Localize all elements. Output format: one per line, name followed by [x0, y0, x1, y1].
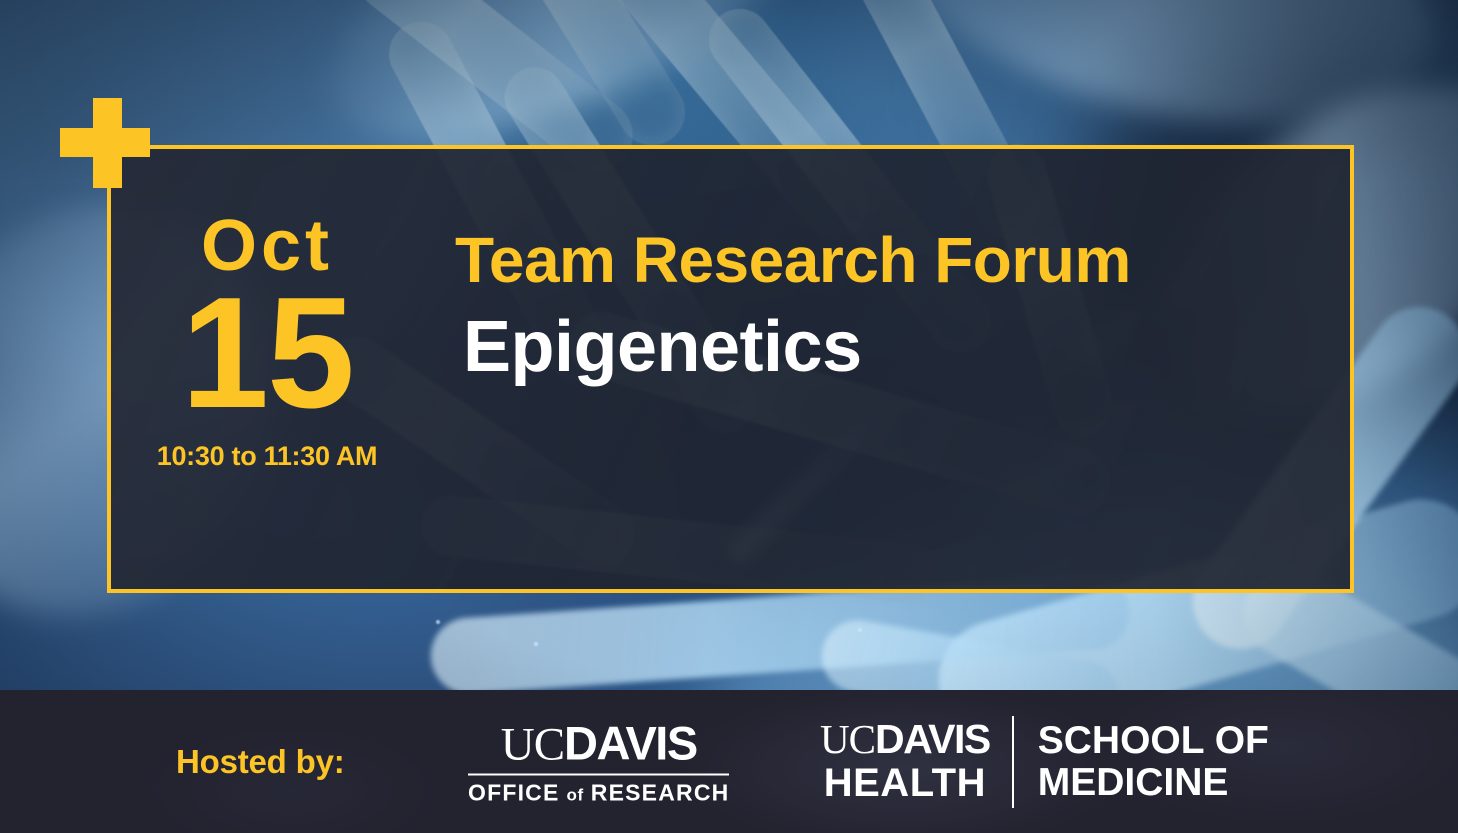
hosted-by-label: Hosted by: — [176, 743, 345, 781]
uc-text: UC — [820, 719, 875, 760]
logo-divider-rule — [468, 773, 729, 775]
davis-text: DAVIS — [875, 719, 990, 760]
event-time: 10:30 to 11:30 AM — [143, 443, 391, 470]
uc-davis-office-of-research-logo: UC DAVIS OFFICE of RESEARCH — [468, 719, 729, 804]
event-date-block: Oct 15 10:30 to 11:30 AM — [143, 212, 391, 470]
unit-name: OFFICE of RESEARCH — [468, 781, 729, 804]
event-title-block: Team Research Forum Epigenetics — [455, 228, 1245, 385]
uc-davis-wordmark: UC DAVIS — [820, 719, 990, 760]
davis-text: DAVIS — [564, 719, 697, 766]
school-line-2: MEDICINE — [1038, 762, 1269, 803]
event-flyer: Oct 15 10:30 to 11:30 AM Team Research F… — [0, 0, 1458, 833]
uc-text: UC — [501, 721, 564, 768]
series-title: Team Research Forum — [455, 228, 1245, 293]
event-day: 15 — [143, 284, 391, 423]
unit-of-text: of — [567, 786, 584, 803]
event-topic: Epigenetics — [463, 311, 1245, 384]
uc-davis-health-wordmark: UC DAVIS HEALTH — [820, 719, 1012, 804]
plus-icon-vertical-bar — [93, 98, 122, 188]
uc-davis-wordmark: UC DAVIS — [468, 719, 729, 768]
footer-bar: Hosted by: UC DAVIS OFFICE of RESEARCH U… — [0, 690, 1458, 833]
school-of-medicine-wordmark: SCHOOL OF MEDICINE — [1014, 720, 1269, 803]
unit-research-text: RESEARCH — [591, 781, 730, 804]
plus-icon — [60, 98, 150, 188]
school-line-1: SCHOOL OF — [1038, 720, 1269, 761]
health-text: HEALTH — [820, 762, 990, 804]
unit-office-text: OFFICE — [468, 781, 560, 804]
uc-davis-health-school-of-medicine-logo: UC DAVIS HEALTH SCHOOL OF MEDICINE — [820, 716, 1269, 808]
